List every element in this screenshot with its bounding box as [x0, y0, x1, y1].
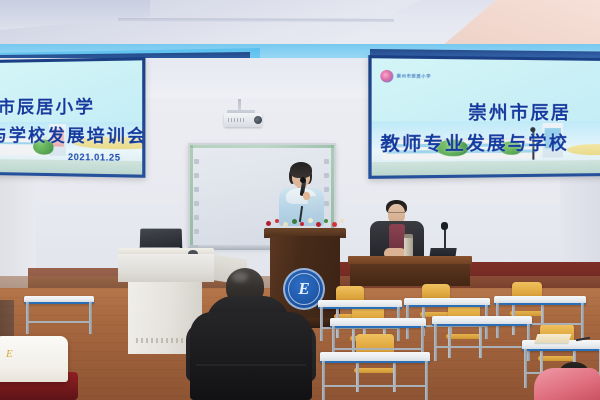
left-projection-screen[interactable]: 州市辰居小学 展与学校发展培训会 2021.01.25 [0, 57, 145, 178]
page-icon[interactable] [324, 159, 329, 164]
shape-icon[interactable] [194, 187, 199, 192]
flower-9 [332, 222, 337, 227]
student-desk [24, 296, 94, 304]
flower-7 [316, 222, 321, 227]
undo-icon[interactable] [194, 201, 199, 206]
whiteboard-top-edge [190, 145, 334, 148]
photo-ground [372, 160, 600, 176]
close-icon[interactable] [324, 201, 329, 206]
desk-leg [320, 307, 323, 341]
desk-rail [434, 346, 528, 348]
classroom-photo-scene: 州市辰居小学 展与学校发展培训会 2021.01.25 崇州市 [0, 0, 600, 400]
zoom-icon[interactable] [324, 173, 329, 178]
flower-10 [340, 219, 344, 223]
whiteboard-right-toolbar[interactable] [323, 159, 331, 215]
desk-rail [322, 385, 426, 387]
grid-icon[interactable] [324, 187, 329, 192]
desk-rail [332, 348, 422, 350]
desk-leg [89, 302, 92, 334]
desk-leg [524, 349, 527, 388]
whiteboard-left-toolbar[interactable] [193, 159, 201, 243]
student-desk [330, 318, 426, 328]
student-desk [404, 298, 490, 307]
glasses-icon [388, 212, 405, 217]
right-slide-line2: 教师专业发展与学校 [380, 129, 569, 157]
left-shadow [0, 300, 14, 340]
thermos-cup [404, 236, 413, 258]
desk-leg [581, 303, 584, 338]
desk-leg [425, 361, 428, 400]
eraser-icon[interactable] [194, 173, 199, 178]
flower-5 [300, 222, 304, 226]
flower-6 [308, 218, 313, 223]
desk-leg [322, 361, 325, 400]
teacher-console [118, 254, 214, 282]
projector-lens-icon [254, 116, 262, 124]
pen-icon[interactable] [194, 159, 199, 164]
flower-3 [283, 222, 288, 227]
classroom-chair-seat [354, 368, 396, 373]
left-slide-line1: 州市辰居小学 [0, 92, 95, 118]
flower-2 [275, 219, 279, 223]
jacket-seam [196, 364, 306, 366]
save-icon[interactable] [194, 215, 199, 220]
left-slide-date: 2021.01.25 [68, 152, 121, 163]
right-audience-member [534, 368, 600, 400]
microphone-icon [441, 222, 448, 230]
left-slide-line2: 展与学校发展培训会 [0, 121, 142, 147]
flower-4 [292, 219, 297, 224]
student-desk [320, 352, 430, 363]
projector-vent [228, 118, 244, 122]
right-slide-line1: 崇州市辰居 [468, 98, 571, 125]
school-logo-icon [380, 70, 393, 83]
panelist-shirt [389, 224, 405, 250]
emblem-glyph: E [283, 279, 325, 299]
thermos-cap [404, 234, 413, 238]
chair-leg [479, 324, 482, 358]
desk-rail [26, 321, 90, 323]
head-table-front [350, 264, 470, 286]
desk-leg [26, 302, 29, 334]
audience-head-highlight [232, 272, 248, 282]
settings-icon[interactable] [194, 229, 199, 234]
classroom-chair-seat [446, 334, 482, 339]
chair-leg [448, 324, 451, 358]
flower-8 [324, 219, 328, 223]
right-slide-surface: 崇州市辰居小学 崇州市辰居 教师专业发展与学校 [372, 58, 600, 175]
slide-logo-text: 崇州市辰居小学 [397, 73, 432, 80]
paper-sheet [535, 334, 572, 343]
flower-1 [266, 221, 271, 226]
classroom-chair-seat [538, 356, 576, 361]
student-desk [432, 316, 532, 326]
student-desk [494, 296, 586, 305]
left-slide-surface: 州市辰居小学 展与学校发展培训会 2021.01.25 [0, 60, 142, 174]
student-desk [318, 300, 402, 309]
microphone-head-icon [300, 177, 306, 183]
speaker-hair [290, 162, 312, 178]
slide-logo: 崇州市辰居小学 [380, 69, 459, 84]
chair-cover-emblem: E [6, 348, 28, 360]
foreground-audience-member [190, 312, 312, 400]
right-projection-screen[interactable]: 崇州市辰居小学 崇州市辰居 教师专业发展与学校 [368, 55, 600, 179]
photo-walkway [567, 144, 600, 156]
desk-leg [434, 324, 437, 361]
